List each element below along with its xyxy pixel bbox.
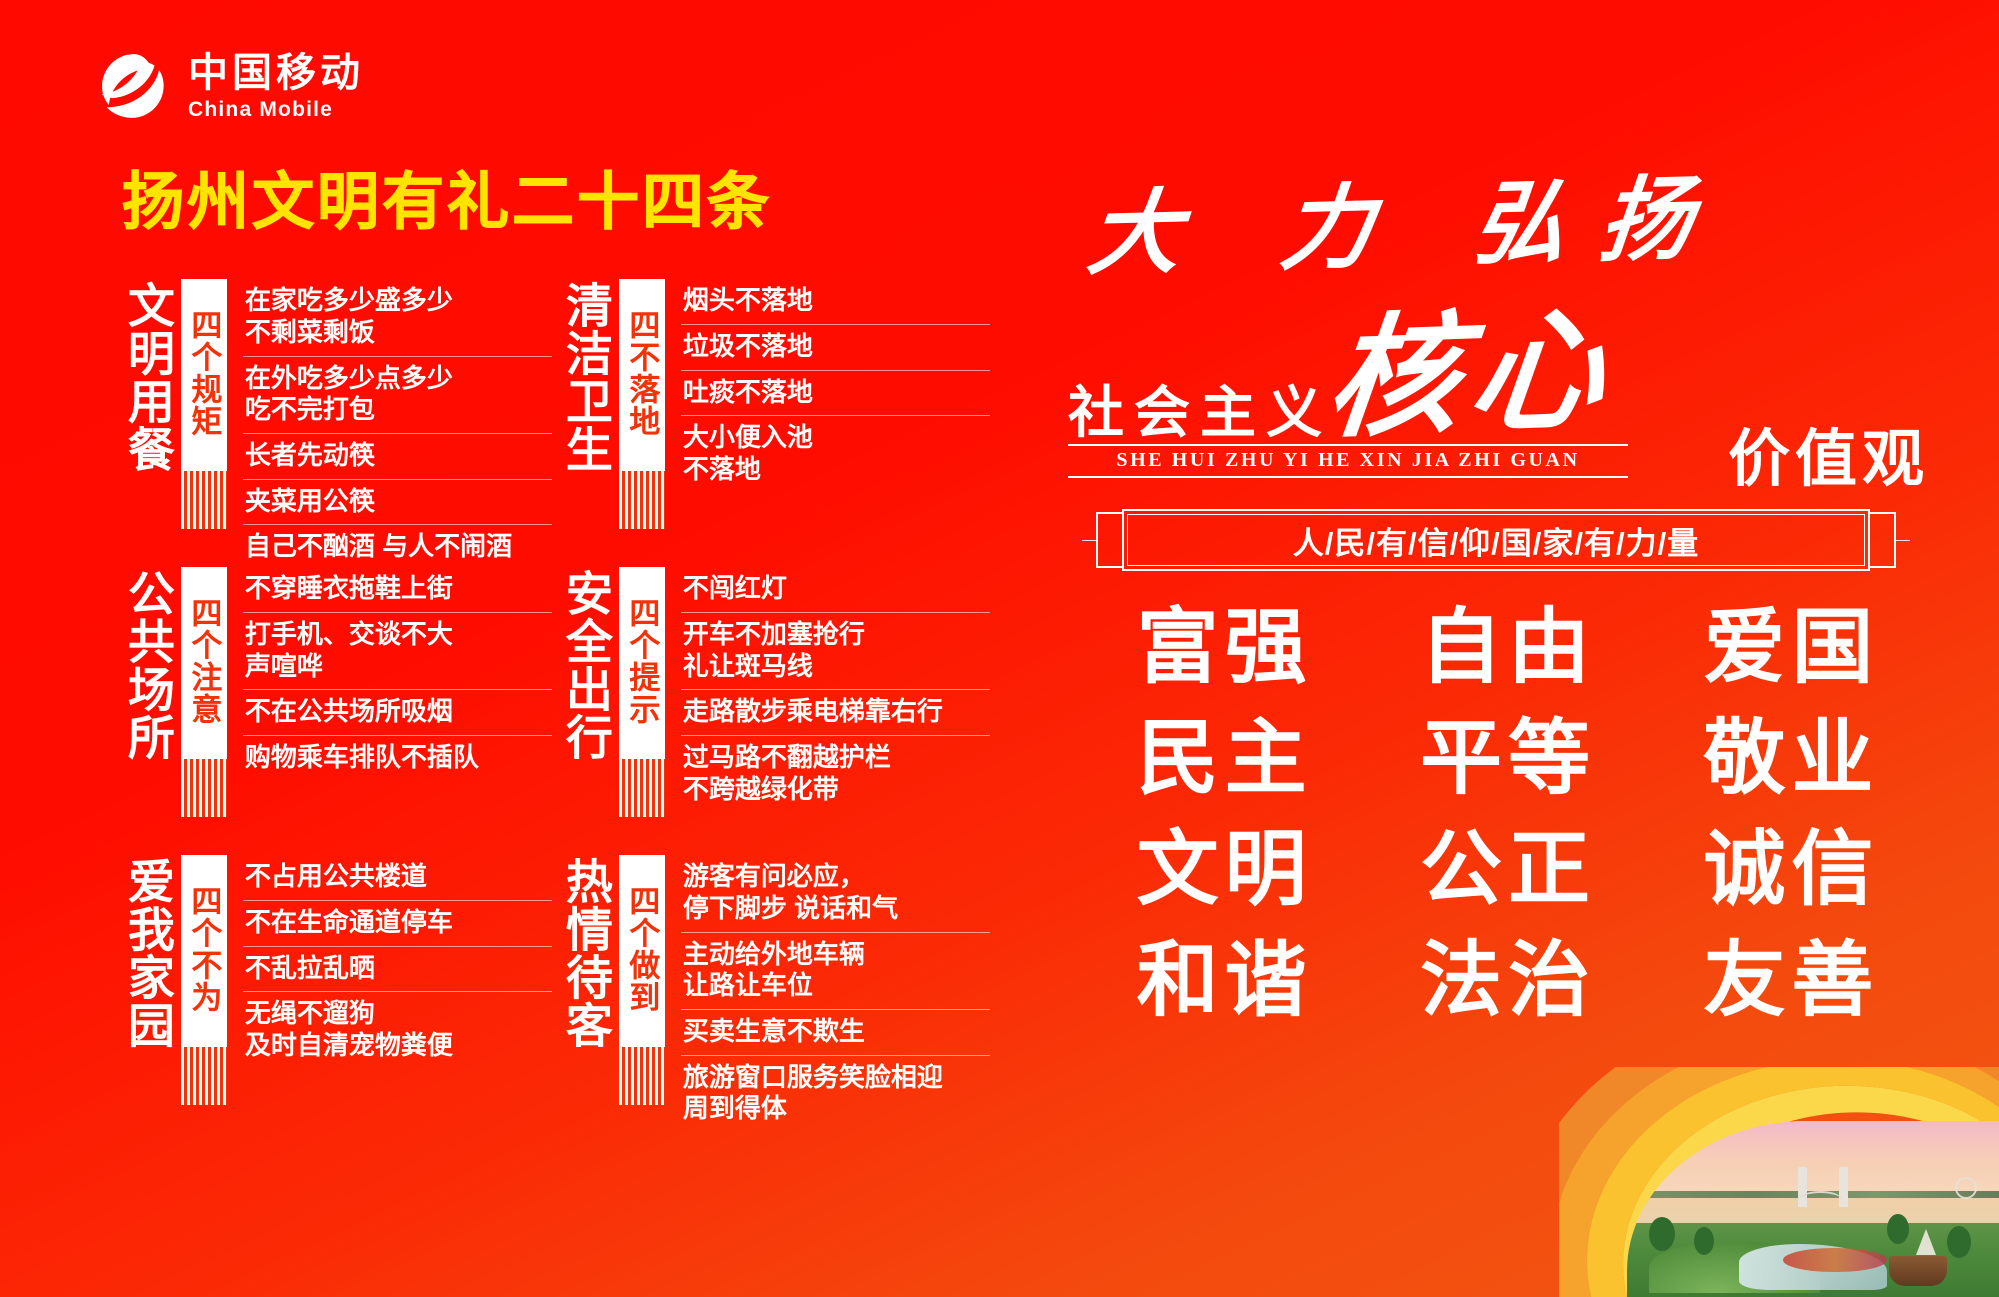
photo-ferris-wheel xyxy=(1955,1177,1977,1199)
rule-block-items: 不闯红灯 开车不加塞抢行礼让斑马线 走路散步乘电梯靠右行 过马路不翻越护栏不跨越… xyxy=(681,567,990,817)
rule-block-items: 烟头不落地 垃圾不落地 吐痰不落地 大小便入池不落地 xyxy=(681,279,990,529)
rules-grid: 文明用餐 四个规矩 在家吃多少盛多少不剩菜剩饭 在外吃多少点多少吃不完打包 长者… xyxy=(0,279,1010,1105)
rule-block-tag: 四不落地 xyxy=(619,279,665,529)
scroll-banner-frame: 人/民/有/信/仰/国/家/有/力/量 xyxy=(1122,509,1870,571)
rule-block-heading: 热情待客 xyxy=(560,855,609,1105)
headline-right: 价值观 xyxy=(1728,408,1929,498)
rule-block: 爱我家园 四个不为 不占用公共楼道 不在生命通道停车 不乱拉乱晒 无绳不遛狗及时… xyxy=(122,855,552,1105)
core-value: 富强 xyxy=(1088,596,1361,701)
china-mobile-logo-icon xyxy=(96,48,172,124)
rule-item: 长者先动筷 xyxy=(243,434,552,480)
rule-block: 热情待客 四个做到 游客有问必应，停下脚步 说话和气 主动给外地车辆让路让车位 … xyxy=(560,855,990,1105)
rule-block-tag: 四个规矩 xyxy=(181,279,227,529)
rule-item: 不在公共场所吸烟 xyxy=(243,690,552,736)
rule-block-heading: 公共场所 xyxy=(122,567,171,817)
core-value: 平等 xyxy=(1371,707,1644,812)
scroll-cap-right-icon xyxy=(1870,512,1896,568)
rule-block-tag: 四个做到 xyxy=(619,855,665,1105)
rule-block-tag: 四个注意 xyxy=(181,567,227,817)
rule-block: 文明用餐 四个规矩 在家吃多少盛多少不剩菜剩饭 在外吃多少点多少吃不完打包 长者… xyxy=(122,279,552,529)
rule-item: 不穿睡衣拖鞋上街 xyxy=(243,567,552,613)
rule-item: 不占用公共楼道 xyxy=(243,855,552,901)
core-value: 友善 xyxy=(1655,929,1928,1034)
rule-block-heading: 安全出行 xyxy=(560,567,609,817)
rule-item: 无绳不遛狗及时自清宠物粪便 xyxy=(243,992,552,1068)
scenic-corner xyxy=(1559,1067,1999,1297)
scroll-banner: 人/民/有/信/仰/国/家/有/力/量 xyxy=(1096,508,1896,572)
rule-block-tag-label: 四个做到 xyxy=(626,885,657,1105)
left-panel: 扬州文明有礼二十四条 文明用餐 四个规矩 在家吃多少盛多少不剩菜剩饭 在外吃多少… xyxy=(0,170,1010,1105)
rule-item: 吐痰不落地 xyxy=(681,371,990,417)
scroll-banner-text: 人/民/有/信/仰/国/家/有/力/量 xyxy=(1127,514,1865,566)
rule-item: 打手机、交谈不大声喧哗 xyxy=(243,613,552,690)
rule-block-heading: 爱我家园 xyxy=(122,855,171,1105)
core-value: 诚信 xyxy=(1655,818,1928,923)
rule-block-tag-label: 四不落地 xyxy=(626,309,657,529)
core-value: 自由 xyxy=(1371,596,1644,701)
core-value: 民主 xyxy=(1088,707,1361,812)
rule-item: 不闯红灯 xyxy=(681,567,990,613)
headline-left: 社会主义 xyxy=(1068,368,1332,449)
poster-canvas: 中国移动 China Mobile 扬州文明有礼二十四条 文明用餐 四个规矩 在… xyxy=(0,0,1999,1297)
rule-block-items: 不穿睡衣拖鞋上街 打手机、交谈不大声喧哗 不在公共场所吸烟 购物乘车排队不插队 xyxy=(243,567,552,817)
photo-bridge-span xyxy=(1798,1191,1843,1201)
rule-item: 烟头不落地 xyxy=(681,279,990,325)
rule-block-heading: 清洁卫生 xyxy=(560,279,609,529)
rule-item: 大小便入池不落地 xyxy=(681,416,990,492)
rule-item: 在家吃多少盛多少不剩菜剩饭 xyxy=(243,279,552,356)
rule-item: 走路散步乘电梯靠右行 xyxy=(681,690,990,736)
rule-block-tag: 四个不为 xyxy=(181,855,227,1105)
rule-block: 公共场所 四个注意 不穿睡衣拖鞋上街 打手机、交谈不大声喧哗 不在公共场所吸烟 … xyxy=(122,567,552,817)
rule-item: 自己不酗酒 与人不闹酒 xyxy=(243,525,552,570)
scenic-photo xyxy=(1627,1121,1999,1297)
rule-item: 旅游窗口服务笑脸相迎周到得体 xyxy=(681,1056,990,1132)
scroll-cap-left-icon xyxy=(1096,512,1122,568)
core-value: 敬业 xyxy=(1655,707,1928,812)
rule-block: 安全出行 四个提示 不闯红灯 开车不加塞抢行礼让斑马线 走路散步乘电梯靠右行 过… xyxy=(560,567,990,817)
rule-block-items: 不占用公共楼道 不在生命通道停车 不乱拉乱晒 无绳不遛狗及时自清宠物粪便 xyxy=(243,855,552,1105)
rule-block-heading: 文明用餐 xyxy=(122,279,171,529)
rule-item: 不在生命通道停车 xyxy=(243,901,552,947)
left-panel-title: 扬州文明有礼二十四条 xyxy=(122,170,1010,235)
core-value: 文明 xyxy=(1088,818,1361,923)
rule-block-tag-label: 四个规矩 xyxy=(188,309,219,529)
rule-item: 游客有问必应，停下脚步 说话和气 xyxy=(681,855,990,932)
rule-block-tag-label: 四个不为 xyxy=(188,885,219,1105)
rule-item: 开车不加塞抢行礼让斑马线 xyxy=(681,613,990,690)
core-value: 和谐 xyxy=(1088,929,1361,1034)
brush-headline-center: 核心 xyxy=(1319,263,1624,464)
logo-name-cn: 中国移动 xyxy=(188,53,364,93)
china-mobile-logo: 中国移动 China Mobile xyxy=(96,48,364,124)
photo-sail xyxy=(1916,1229,1936,1255)
photo-boat xyxy=(1889,1256,1947,1286)
rule-item: 夹菜用公筷 xyxy=(243,480,552,526)
rule-block-tag: 四个提示 xyxy=(619,567,665,817)
core-values-grid: 富强 自由 爱国 民主 平等 敬业 文明 公正 诚信 和谐 法治 友善 xyxy=(1088,596,1928,1034)
rule-block-items: 在家吃多少盛多少不剩菜剩饭 在外吃多少点多少吃不完打包 长者先动筷 夹菜用公筷 … xyxy=(243,279,552,529)
rule-item: 购物乘车排队不插队 xyxy=(243,736,552,781)
rule-item: 过马路不翻越护栏不跨越绿化带 xyxy=(681,736,990,812)
rule-block-tag-label: 四个提示 xyxy=(626,597,657,817)
rule-item: 垃圾不落地 xyxy=(681,325,990,371)
photo-tree xyxy=(1947,1226,1971,1258)
photo-tree xyxy=(1694,1227,1714,1255)
rule-item: 买卖生意不欺生 xyxy=(681,1010,990,1056)
rule-item: 在外吃多少点多少吃不完打包 xyxy=(243,357,552,434)
rule-item: 主动给外地车辆让路让车位 xyxy=(681,933,990,1010)
core-value: 公正 xyxy=(1371,818,1644,923)
rule-block-items: 游客有问必应，停下脚步 说话和气 主动给外地车辆让路让车位 买卖生意不欺生 旅游… xyxy=(681,855,990,1105)
core-value: 爱国 xyxy=(1655,596,1928,701)
rule-item: 不乱拉乱晒 xyxy=(243,947,552,993)
core-value: 法治 xyxy=(1371,929,1644,1034)
rule-block-tag-label: 四个注意 xyxy=(188,597,219,817)
rule-block: 清洁卫生 四不落地 烟头不落地 垃圾不落地 吐痰不落地 大小便入池不落地 xyxy=(560,279,990,529)
logo-name-en: China Mobile xyxy=(188,99,364,120)
